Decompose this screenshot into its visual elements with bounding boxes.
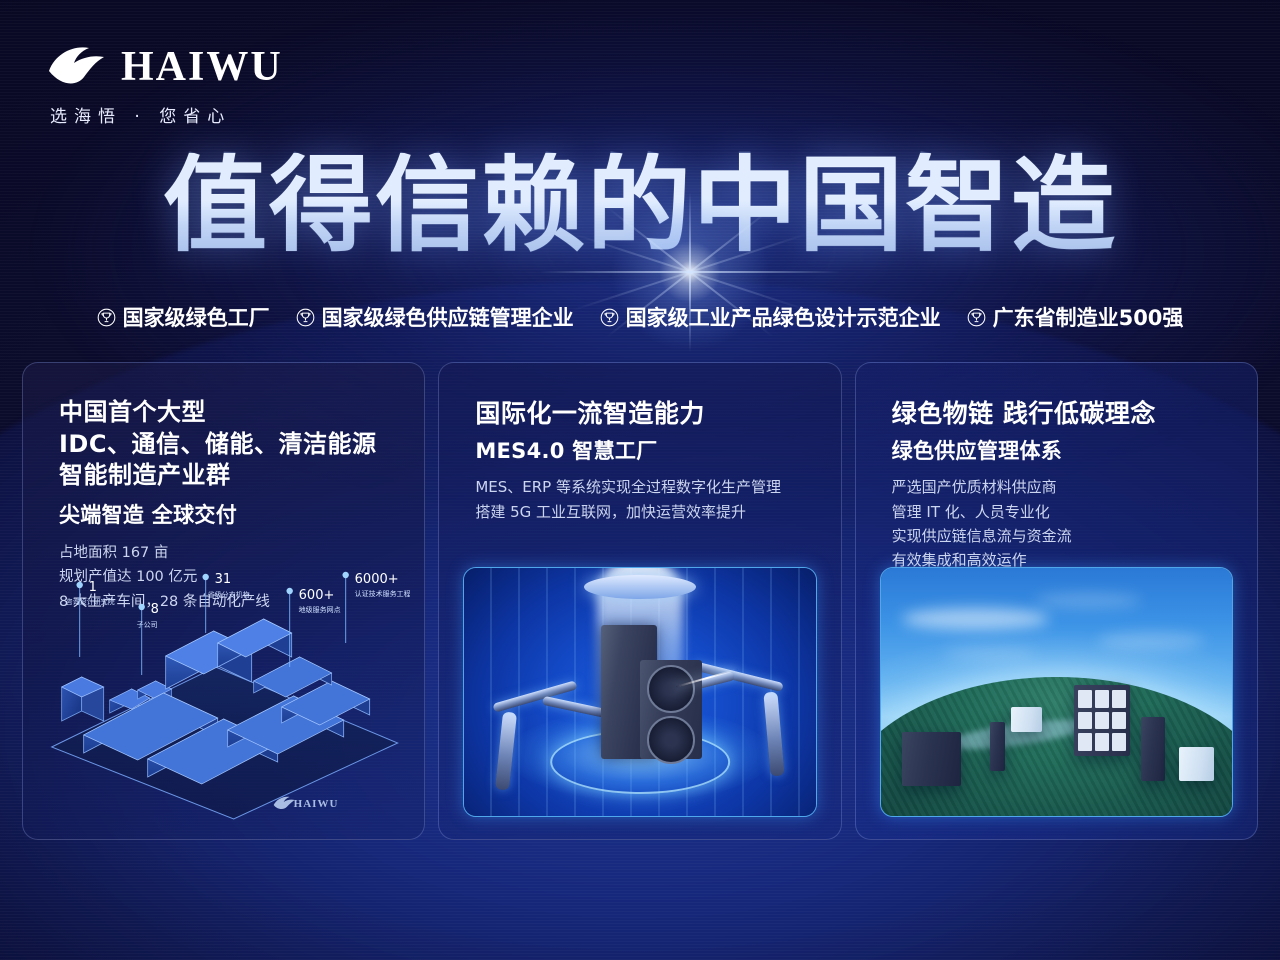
park-marker: 31 省级分支机构 <box>202 572 249 633</box>
status-badge-label: 广东省制造业500强 <box>993 302 1184 332</box>
status-badge: 国家级绿色工厂 <box>97 302 270 332</box>
smart-factory-image <box>463 567 816 817</box>
park-marker: 600+ 地级服务网点 <box>286 588 340 667</box>
card-title: 绿色物链 践行低碳理念 <box>892 397 1227 430</box>
feature-card-smart-factory[interactable]: 国际化一流智造能力 MES4.0 智慧工厂 MES、ERP 等系统实现全过程数字… <box>438 362 841 840</box>
svg-text:600+: 600+ <box>299 588 335 603</box>
svg-text:省级分支机构: 省级分支机构 <box>208 590 250 599</box>
equipment-cabinet <box>1141 717 1166 781</box>
status-badge: 国家级工业产品绿色设计示范企业 <box>600 302 941 332</box>
brand-name: HAIWU <box>121 46 283 88</box>
equipment-cabinet <box>902 732 962 787</box>
equipment-cabinet <box>1011 707 1043 732</box>
card-body-text: 严选国产优质材料供应商 管理 IT 化、人员专业化 实现供应链信息流与资金流 有… <box>892 475 1227 572</box>
status-badge-label: 国家级绿色工厂 <box>123 302 270 332</box>
svg-text:1: 1 <box>89 580 97 595</box>
svg-text:31: 31 <box>215 572 232 587</box>
status-badge: 国家级绿色供应链管理企业 <box>296 302 574 332</box>
brand-logo[interactable]: HAIWU 选海悟 · 您省心 <box>47 44 283 127</box>
feature-card-list: 中国首个大型 IDC、通信、储能、清洁能源 智能制造产业群 尖端智造 全球交付 … <box>22 362 1258 840</box>
card-subtitle: 尖端智造 全球交付 <box>59 501 394 530</box>
card-body-text: MES、ERP 等系统实现全过程数字化生产管理 搭建 5G 工业互联网，加快运营… <box>475 475 810 524</box>
trophy-circle-icon <box>97 308 116 327</box>
svg-text:HAIWU: HAIWU <box>294 798 339 810</box>
trophy-circle-icon <box>600 308 619 327</box>
page-title: 值得信赖的中国智造 <box>0 153 1280 257</box>
park-watermark: HAIWU <box>274 797 339 810</box>
brand-tagline: 选海悟 · 您省心 <box>50 102 283 127</box>
equipment-cabinet <box>1179 747 1214 782</box>
status-badge-label: 国家级绿色供应链管理企业 <box>322 302 574 332</box>
svg-text:地级服务网点: 地级服务网点 <box>299 605 341 614</box>
svg-text:6000+: 6000+ <box>355 572 399 587</box>
card-title: 中国首个大型 IDC、通信、储能、清洁能源 智能制造产业群 <box>59 397 394 492</box>
isometric-park-diagram: 1 咨询设计研究院 8 子公司 31 省级分支机构 <box>37 571 410 821</box>
svg-text:8: 8 <box>151 602 159 617</box>
trophy-circle-icon <box>296 308 315 327</box>
green-landscape-image <box>880 567 1233 817</box>
server-cabinet-fans <box>640 660 702 759</box>
status-badge: 广东省制造业500强 <box>967 302 1184 332</box>
certification-badge-list: 国家级绿色工厂 国家级绿色供应链管理企业 国家级工业产品绿色设计示范企业 <box>0 302 1280 332</box>
equipment-cabinet <box>990 722 1006 772</box>
card-title: 国际化一流智造能力 <box>475 397 810 430</box>
svg-text:子公司: 子公司 <box>137 621 158 629</box>
equipment-cabinet-grid <box>1074 685 1130 757</box>
svg-text:咨询设计研究院: 咨询设计研究院 <box>66 597 115 606</box>
card-subtitle: 绿色供应管理体系 <box>892 437 1227 466</box>
park-marker: 8 子公司 <box>137 602 159 675</box>
status-badge-label: 国家级工业产品绿色设计示范企业 <box>626 302 941 332</box>
park-marker: 6000+ 认证技术服务工程师 <box>342 572 410 643</box>
trophy-circle-icon <box>967 308 986 327</box>
feature-card-green-supply[interactable]: 绿色物链 践行低碳理念 绿色供应管理体系 严选国产优质材料供应商 管理 IT 化… <box>855 362 1258 840</box>
svg-text:认证技术服务工程师: 认证技术服务工程师 <box>355 589 411 598</box>
leaf-wave-icon <box>47 44 109 90</box>
feature-card-industrial-park[interactable]: 中国首个大型 IDC、通信、储能、清洁能源 智能制造产业群 尖端智造 全球交付 … <box>22 362 425 840</box>
card-subtitle: MES4.0 智慧工厂 <box>475 437 810 466</box>
park-marker: 1 咨询设计研究院 <box>66 580 115 657</box>
